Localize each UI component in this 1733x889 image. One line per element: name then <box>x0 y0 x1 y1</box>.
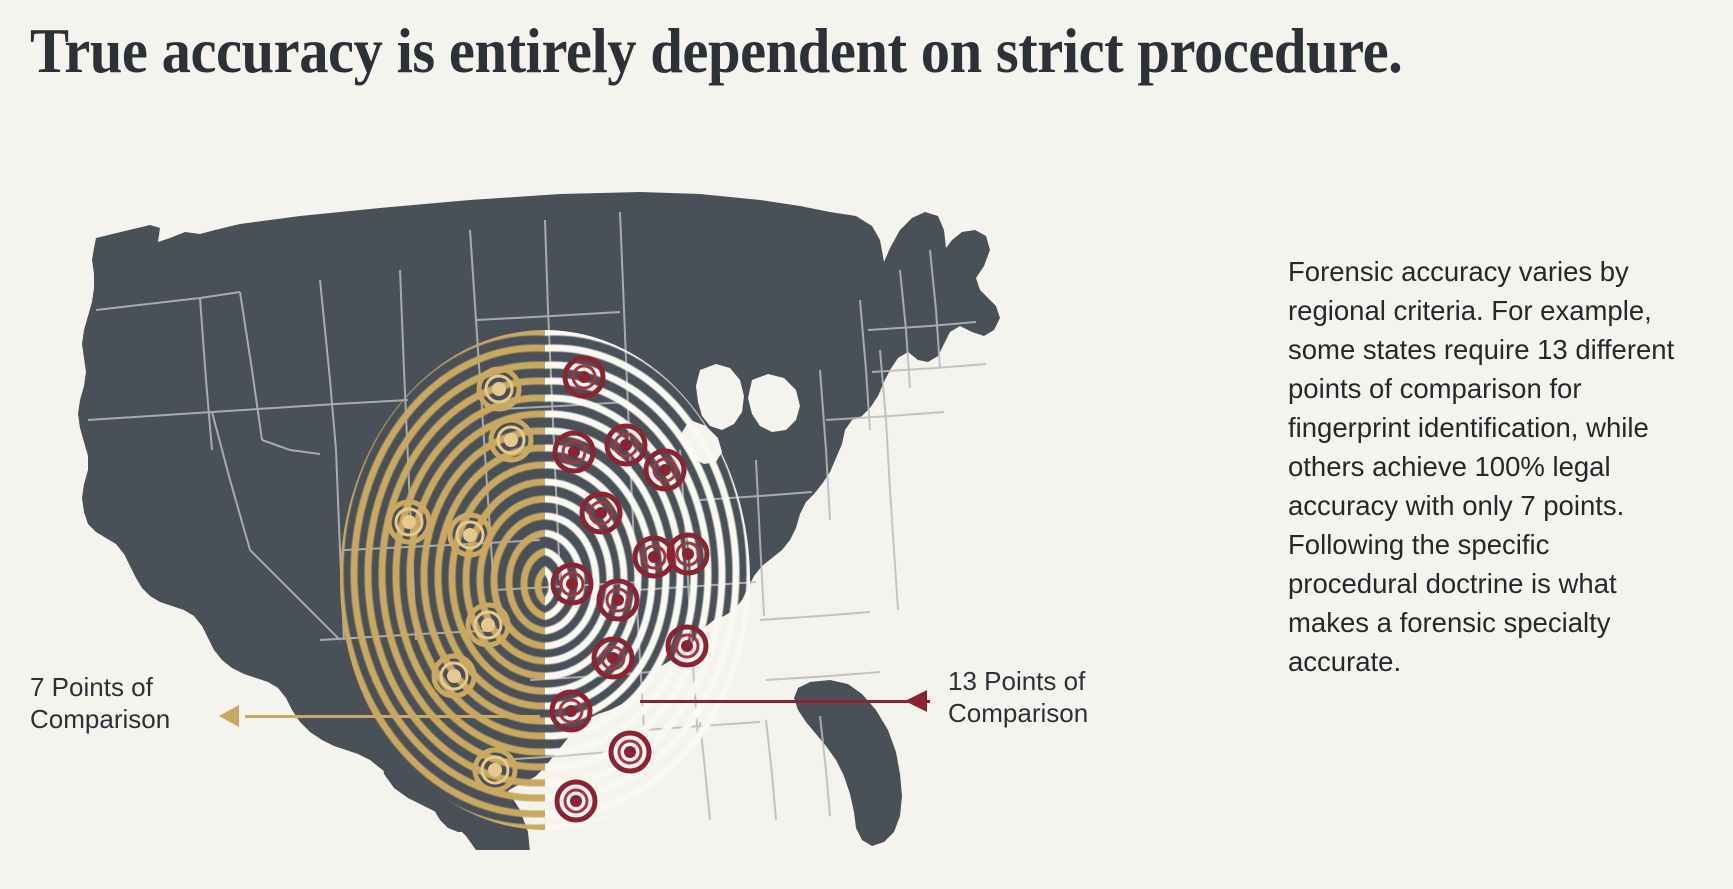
page-title: True accuracy is entirely dependent on s… <box>30 18 1592 84</box>
marker-gold <box>475 750 515 790</box>
arrow-left-gold-icon <box>219 705 239 727</box>
leader-line-red <box>640 700 930 703</box>
marker-gold <box>450 515 490 555</box>
map-svg <box>0 120 1140 850</box>
infographic-stage: True accuracy is entirely dependent on s… <box>0 0 1733 889</box>
us-map-figure <box>0 120 1140 850</box>
marker-gold <box>491 420 531 460</box>
marker-gold <box>468 605 508 645</box>
annotation-13-points: 13 Points of Comparison <box>948 666 1178 729</box>
marker-gold <box>434 656 474 696</box>
leader-line-gold <box>245 715 540 718</box>
body-paragraph: Forensic accuracy varies by regional cri… <box>1288 252 1678 682</box>
marker-gold <box>389 502 429 542</box>
marker-gold <box>479 369 519 409</box>
